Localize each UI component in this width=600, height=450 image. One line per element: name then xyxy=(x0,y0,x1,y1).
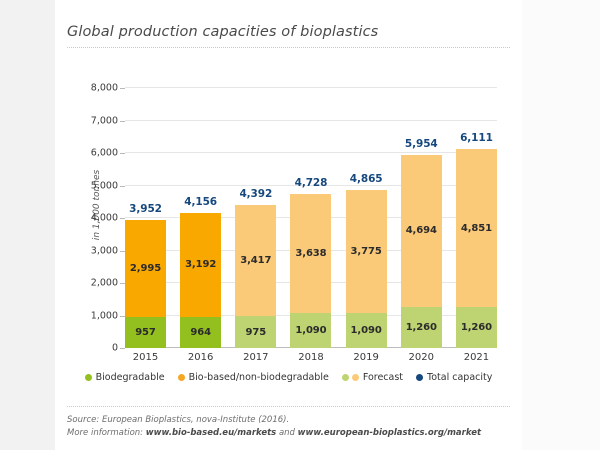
plot-area: 01,0002,0003,0004,0005,0006,0007,0008,00… xyxy=(125,88,497,348)
bar-segment-value: 3,638 xyxy=(295,248,326,259)
legend-label: Bio-based/non-biodegradable xyxy=(189,372,329,383)
bar-stack: 3,192964 xyxy=(180,213,221,348)
legend-dot-icon xyxy=(178,374,185,381)
bar-column[interactable]: 3,6381,0904,728 xyxy=(290,88,331,348)
bar-stack: 3,7751,090 xyxy=(346,190,387,348)
page-gutter-left xyxy=(0,0,55,450)
chart-card: Global production capacities of bioplast… xyxy=(55,0,522,450)
footer-link-european-bioplastics[interactable]: www.european-bioplastics.org/market xyxy=(298,428,481,438)
y-axis-tick-label: 5,000 xyxy=(91,180,118,191)
bar-stack: 3,6381,090 xyxy=(290,194,331,348)
bar-segment-bio-based-non-biodegradable[interactable]: 4,851 xyxy=(456,149,497,307)
bar-segment-bio-based-non-biodegradable[interactable]: 3,638 xyxy=(290,194,331,312)
bar-segment-bio-based-non-biodegradable[interactable]: 4,694 xyxy=(401,155,442,308)
bar-column[interactable]: 4,6941,2605,954 xyxy=(401,88,442,348)
bar-column[interactable]: 2,9959573,952 xyxy=(125,88,166,348)
bar-segment-bio-based-non-biodegradable[interactable]: 3,775 xyxy=(346,190,387,313)
y-axis-tick-label: 8,000 xyxy=(91,83,118,94)
bar-segment-value: 1,090 xyxy=(295,325,326,336)
page-gutter-right xyxy=(522,0,600,450)
bar-segment-value: 1,090 xyxy=(351,325,382,336)
footer-more-info-line: More information: www.bio-based.eu/marke… xyxy=(67,427,510,440)
bar-segment-value: 975 xyxy=(246,327,267,338)
chart-legend: BiodegradableBio-based/non-biodegradable… xyxy=(55,372,522,383)
legend-label: Total capacity xyxy=(427,372,492,383)
legend-swatch xyxy=(85,374,92,381)
total-capacity-label: 3,952 xyxy=(129,203,162,215)
bar-segment-bio-based-non-biodegradable[interactable]: 3,192 xyxy=(180,213,221,317)
bar-segment-biodegradable[interactable]: 1,090 xyxy=(346,313,387,348)
bar-segment-value: 1,260 xyxy=(461,322,492,333)
legend-label: Forecast xyxy=(363,372,403,383)
bar-segment-value: 964 xyxy=(190,327,211,338)
y-axis-tick-label: 1,000 xyxy=(91,310,118,321)
bar-segment-biodegradable[interactable]: 957 xyxy=(125,317,166,348)
x-axis-label-2020: 2020 xyxy=(401,352,442,363)
y-axis-tick-label: 3,000 xyxy=(91,245,118,256)
bar-segment-value: 1,260 xyxy=(406,322,437,333)
total-capacity-label: 4,865 xyxy=(350,173,383,185)
total-capacity-label: 5,954 xyxy=(405,138,438,150)
bar-segment-value: 4,851 xyxy=(461,223,492,234)
y-axis-tick-label: 2,000 xyxy=(91,278,118,289)
bar-stack: 4,6941,260 xyxy=(401,155,442,348)
x-axis-label-2017: 2017 xyxy=(235,352,276,363)
footer-divider xyxy=(67,406,510,407)
bar-group: 2,9959573,9523,1929644,1563,4179754,3923… xyxy=(125,88,497,348)
legend-dot-icon xyxy=(416,374,423,381)
bar-segment-bio-based-non-biodegradable[interactable]: 2,995 xyxy=(125,220,166,317)
legend-dot-icon xyxy=(342,374,349,381)
x-axis-label-2015: 2015 xyxy=(125,352,166,363)
total-capacity-label: 4,156 xyxy=(184,196,217,208)
total-capacity-label: 4,728 xyxy=(295,177,328,189)
bar-segment-value: 957 xyxy=(135,327,156,338)
y-axis-tick-label: 0 xyxy=(112,343,118,354)
footer-link-bio-based[interactable]: www.bio-based.eu/markets xyxy=(146,428,277,438)
bar-stack: 3,417975 xyxy=(235,205,276,348)
bar-stack: 4,8511,260 xyxy=(456,149,497,348)
y-axis-tick-label: 4,000 xyxy=(91,213,118,224)
bar-segment-biodegradable[interactable]: 1,090 xyxy=(290,313,331,348)
bar-column[interactable]: 3,4179754,392 xyxy=(235,88,276,348)
x-axis-label-2018: 2018 xyxy=(290,352,331,363)
bar-segment-value: 3,775 xyxy=(351,246,382,257)
total-capacity-label: 6,111 xyxy=(460,132,493,144)
legend-swatch xyxy=(178,374,185,381)
legend-item[interactable]: Bio-based/non-biodegradable xyxy=(178,372,329,383)
legend-item[interactable]: Biodegradable xyxy=(85,372,165,383)
y-axis-tick-label: 7,000 xyxy=(91,115,118,126)
footer-more-info-prefix: More information: xyxy=(67,428,146,438)
x-axis-labels: 2015201620172018201920202021 xyxy=(125,352,497,363)
chart-title: Global production capacities of bioplast… xyxy=(67,24,378,40)
legend-swatch xyxy=(416,374,423,381)
footer-conjunction: and xyxy=(276,428,297,438)
legend-swatch xyxy=(342,374,359,381)
title-divider xyxy=(67,47,510,48)
bar-segment-biodegradable[interactable]: 1,260 xyxy=(456,307,497,348)
x-axis-label-2016: 2016 xyxy=(180,352,221,363)
footer-notes: Source: European Bioplastics, nova-Insti… xyxy=(67,414,510,440)
legend-item[interactable]: Forecast xyxy=(342,372,403,383)
bar-segment-biodegradable[interactable]: 975 xyxy=(235,316,276,348)
bar-column[interactable]: 4,8511,2606,111 xyxy=(456,88,497,348)
bar-column[interactable]: 3,1929644,156 xyxy=(180,88,221,348)
chart-area: in 1,000 tonnes 01,0002,0003,0004,0005,0… xyxy=(55,60,522,360)
bar-segment-value: 4,694 xyxy=(406,225,437,236)
legend-item[interactable]: Total capacity xyxy=(416,372,492,383)
x-axis-label-2019: 2019 xyxy=(346,352,387,363)
legend-label: Biodegradable xyxy=(96,372,165,383)
bar-stack: 2,995957 xyxy=(125,220,166,348)
y-axis-tick-mark xyxy=(120,348,125,349)
y-axis-tick-label: 6,000 xyxy=(91,148,118,159)
bar-segment-value: 2,995 xyxy=(130,263,161,274)
footer-source-line: Source: European Bioplastics, nova-Insti… xyxy=(67,414,510,427)
legend-dot-icon xyxy=(85,374,92,381)
bar-segment-bio-based-non-biodegradable[interactable]: 3,417 xyxy=(235,205,276,316)
legend-dot-icon xyxy=(352,374,359,381)
bar-segment-biodegradable[interactable]: 964 xyxy=(180,317,221,348)
bar-segment-biodegradable[interactable]: 1,260 xyxy=(401,307,442,348)
page-root: Global production capacities of bioplast… xyxy=(0,0,600,450)
bar-segment-value: 3,417 xyxy=(240,255,271,266)
bar-segment-value: 3,192 xyxy=(185,259,216,270)
bar-column[interactable]: 3,7751,0904,865 xyxy=(346,88,387,348)
x-axis-label-2021: 2021 xyxy=(456,352,497,363)
total-capacity-label: 4,392 xyxy=(239,188,272,200)
